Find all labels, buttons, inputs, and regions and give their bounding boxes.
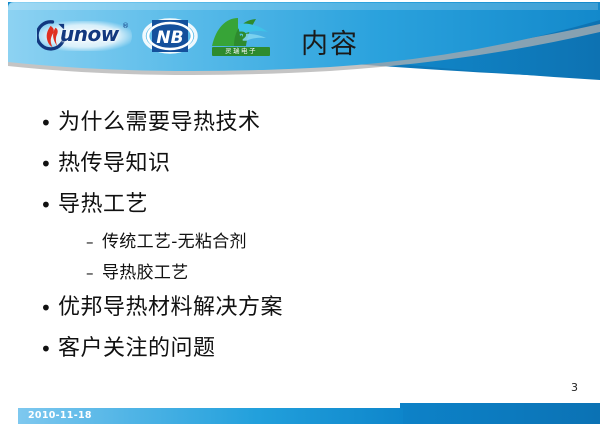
list-item: • 热传导知识: [36, 145, 556, 183]
list-item-label: 为什么需要导热技术: [58, 104, 261, 142]
list-item: • 导热工艺: [36, 186, 556, 224]
list-item-label: 导热工艺: [58, 186, 148, 224]
bullet-glyph: •: [36, 104, 58, 142]
subbullet-glyph: –: [86, 227, 102, 257]
list-item: • 优邦导热材料解决方案: [36, 289, 556, 327]
footer-date: 2010-11-18: [28, 410, 92, 421]
slide-footer: 2010-11-18: [0, 400, 600, 424]
sub-list-item: – 传统工艺-无粘合剂: [86, 227, 556, 257]
bullet-glyph: •: [36, 330, 58, 368]
page-title: 内容: [0, 22, 600, 61]
slide-canvas: unow ® NB 2 灵瑞电子 内容: [0, 0, 600, 424]
list-item-label: 优邦导热材料解决方案: [58, 289, 283, 327]
sub-list-item-label: 传统工艺-无粘合剂: [102, 227, 247, 257]
sub-list-item: – 导热胶工艺: [86, 258, 556, 288]
bullet-glyph: •: [36, 145, 58, 183]
page-number: 3: [571, 381, 578, 394]
subbullet-glyph: –: [86, 258, 102, 288]
sub-list-item-label: 导热胶工艺: [102, 258, 189, 288]
list-item-label: 热传导知识: [58, 145, 171, 183]
content-bullet-list: • 为什么需要导热技术 • 热传导知识 • 导热工艺 – 传统工艺-无粘合剂 –…: [36, 104, 556, 371]
list-item: • 客户关注的问题: [36, 330, 556, 368]
bullet-glyph: •: [36, 289, 58, 327]
bullet-glyph: •: [36, 186, 58, 224]
list-item: • 为什么需要导热技术: [36, 104, 556, 142]
list-item-label: 客户关注的问题: [58, 330, 216, 368]
footer-bar-right: [400, 403, 600, 424]
